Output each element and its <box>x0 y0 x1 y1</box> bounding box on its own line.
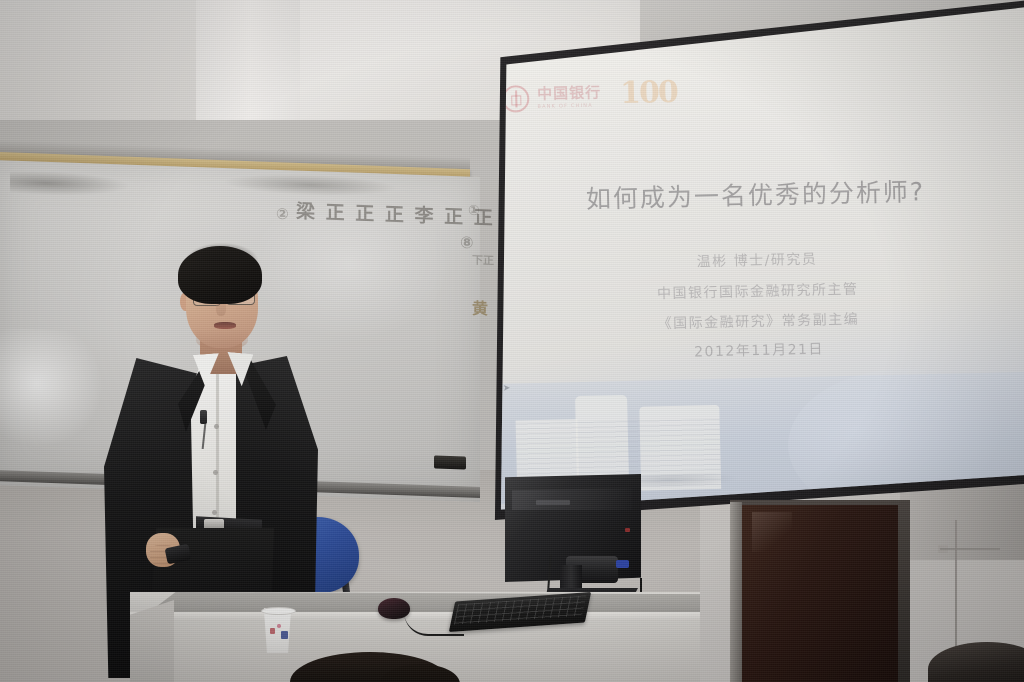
door-highlight <box>752 512 792 552</box>
slide-journal-line: 《国际金融研究》常务副主编 <box>485 305 1024 337</box>
monitor-back-sheen <box>512 488 632 510</box>
speaker-shirt-placket <box>216 372 219 522</box>
slide-presenter-line: 温彬 博士/研究员 <box>484 244 1024 276</box>
monitor-brand-label <box>536 500 570 505</box>
whiteboard-glare-main <box>0 328 105 452</box>
speaker-hair-top <box>186 243 258 261</box>
paper-cup-pattern <box>277 624 281 628</box>
speaker-mouth <box>214 322 236 329</box>
lecture-photo-scene: ② 梁 正 正 正 李 正 正 ① ⑧ 下正 黄 ➤ 中国银行 BANK OF … <box>0 0 1024 682</box>
speaker-shirt-button <box>212 510 217 515</box>
monitor-power-led <box>625 528 630 532</box>
centenary-mark: 100 <box>620 78 677 109</box>
audio-plug <box>616 560 629 568</box>
slide-bird-mark: ➤ <box>503 384 511 394</box>
slide-affiliation-line: 中国银行国际金融研究所主管 <box>485 275 1024 307</box>
slide-title: 如何成为一名优秀的分析师? <box>482 170 1024 218</box>
wall-cable-horizontal <box>940 548 1000 550</box>
speaker-shirt-button <box>213 470 218 475</box>
paper-cup-rim <box>261 607 296 615</box>
slide-date: 2012年11月21日 <box>486 334 1024 366</box>
whiteboard-small-note: 下正 <box>472 252 494 269</box>
boc-coin-icon <box>502 85 530 113</box>
whiteboard-smudge-left <box>10 170 130 198</box>
boc-chinese-name: 中国银行 <box>537 85 601 101</box>
speaker-jaw-shadow <box>196 330 248 350</box>
paper-cup-pattern <box>281 631 288 639</box>
bank-of-china-logo: 中国银行 BANK OF CHINA <box>502 83 602 112</box>
paper-cup-pattern <box>270 628 275 634</box>
boc-english-name: BANK OF CHINA <box>537 103 601 109</box>
whiteboard-eraser <box>434 455 466 469</box>
door-jamb <box>730 502 742 682</box>
whiteboard-name-note: 黄 <box>472 295 488 320</box>
whiteboard-circled-mark-right: ① <box>468 203 480 219</box>
wall-cable-vertical <box>955 520 957 650</box>
whiteboard-circled-mark-b: ⑧ <box>460 233 474 252</box>
projected-slide: ➤ 中国银行 BANK OF CHINA 100 如何成为一名优秀的分析师? 温… <box>484 0 1024 520</box>
speaker-shirt-button <box>214 424 219 429</box>
whiteboard-circled-mark-left: ② <box>276 205 289 223</box>
